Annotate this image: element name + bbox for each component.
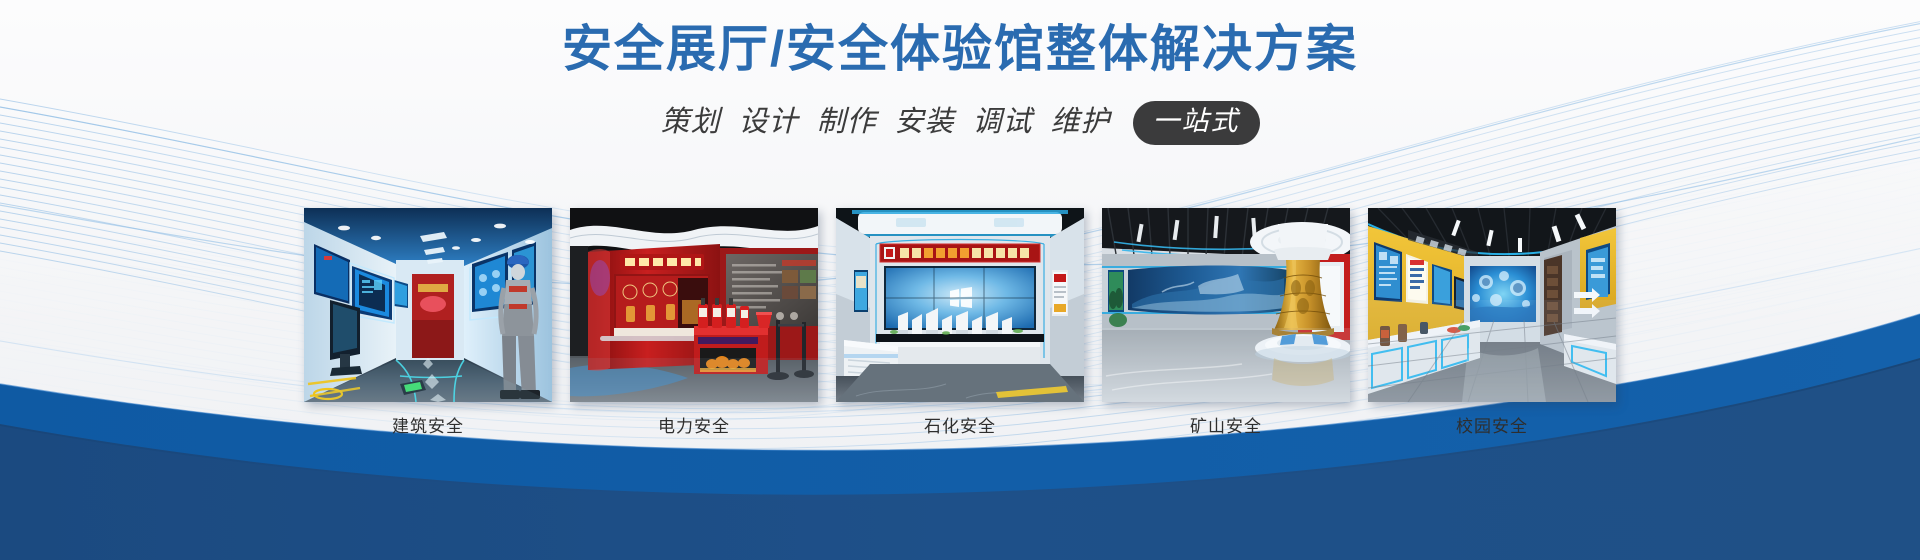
- gallery-card-mine[interactable]: 矿山安全: [1102, 208, 1350, 437]
- electrical-safety-exhibition-hall-image: [570, 208, 818, 402]
- thumbnail-petrochemical-safety[interactable]: [836, 208, 1084, 402]
- subtitle-word-debugging: 调试: [973, 108, 1033, 137]
- one-stop-badge: 一站式: [1133, 101, 1260, 145]
- thumbnail-campus-safety[interactable]: [1368, 208, 1616, 402]
- headline-container: 安全展厅/安全体验馆整体解决方案: [0, 22, 1920, 77]
- gallery-caption-campus: 校园安全: [1456, 417, 1528, 437]
- subtitle-word-planning: 策划: [660, 108, 720, 137]
- subtitle-word-design: 设计: [738, 108, 798, 137]
- subtitle-word-maintenance: 维护: [1051, 108, 1111, 137]
- gallery-card-petrochemical[interactable]: 石化安全: [836, 208, 1084, 437]
- gallery-container: 建筑安全: [0, 208, 1920, 437]
- banner-root: 安全展厅/安全体验馆整体解决方案 策划 设计 制作 安装 调试 维护 一站式: [0, 0, 1920, 560]
- gallery-caption-mine: 矿山安全: [1190, 417, 1262, 437]
- construction-safety-exhibition-hall-image: [304, 208, 552, 402]
- gallery-caption-electrical: 电力安全: [658, 417, 730, 437]
- campus-safety-exhibition-hall-image: [1368, 208, 1616, 402]
- page-title: 安全展厅/安全体验馆整体解决方案: [0, 22, 1920, 77]
- gallery-card-electrical[interactable]: 电力安全: [570, 208, 818, 437]
- petrochemical-safety-exhibition-hall-image: [836, 208, 1084, 402]
- thumbnail-electrical-safety[interactable]: [570, 208, 818, 402]
- gallery-card-construction[interactable]: 建筑安全: [304, 208, 552, 437]
- gallery-caption-construction: 建筑安全: [392, 417, 464, 437]
- subtitle-word-production: 制作: [816, 108, 876, 137]
- subtitle-word-installation: 安装: [895, 108, 955, 137]
- thumbnail-mine-safety[interactable]: [1102, 208, 1350, 402]
- gallery-caption-petrochemical: 石化安全: [924, 417, 996, 437]
- subtitle-container: 策划 设计 制作 安装 调试 维护 一站式: [0, 101, 1920, 145]
- gallery-card-campus[interactable]: 校园安全: [1368, 208, 1616, 437]
- thumbnail-construction-safety[interactable]: [304, 208, 552, 402]
- mine-safety-exhibition-hall-image: [1102, 208, 1350, 402]
